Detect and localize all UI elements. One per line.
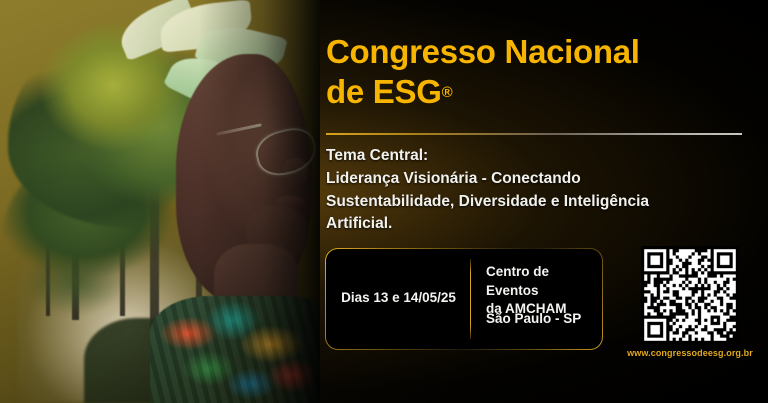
event-city: São Paulo - SP	[486, 311, 602, 326]
event-banner: Congresso Nacional de ESG® Tema Central:…	[0, 0, 768, 403]
registered-trademark-icon: ®	[442, 84, 453, 101]
event-dates: Dias 13 e 14/05/25	[331, 290, 466, 305]
artwork-garment-folds	[150, 296, 320, 403]
theme-text: Tema Central: Liderança Visionária - Con…	[326, 145, 756, 236]
info-box-divider	[470, 259, 471, 339]
event-title: Congresso Nacional de ESG®	[326, 32, 746, 113]
qr-code[interactable]	[641, 246, 739, 344]
title-divider	[326, 133, 742, 135]
qr-block[interactable]: www.congressodeesg.org.br	[620, 246, 760, 358]
event-info-box-inner: Dias 13 e 14/05/25 Centro de Eventos da …	[326, 249, 602, 349]
artwork-image	[0, 0, 320, 403]
event-info-box: Dias 13 e 14/05/25 Centro de Eventos da …	[325, 248, 603, 350]
website-url[interactable]: www.congressodeesg.org.br	[620, 348, 760, 358]
banner-content: Congresso Nacional de ESG® Tema Central:…	[320, 0, 768, 403]
event-title-text: Congresso Nacional de ESG	[326, 33, 640, 110]
